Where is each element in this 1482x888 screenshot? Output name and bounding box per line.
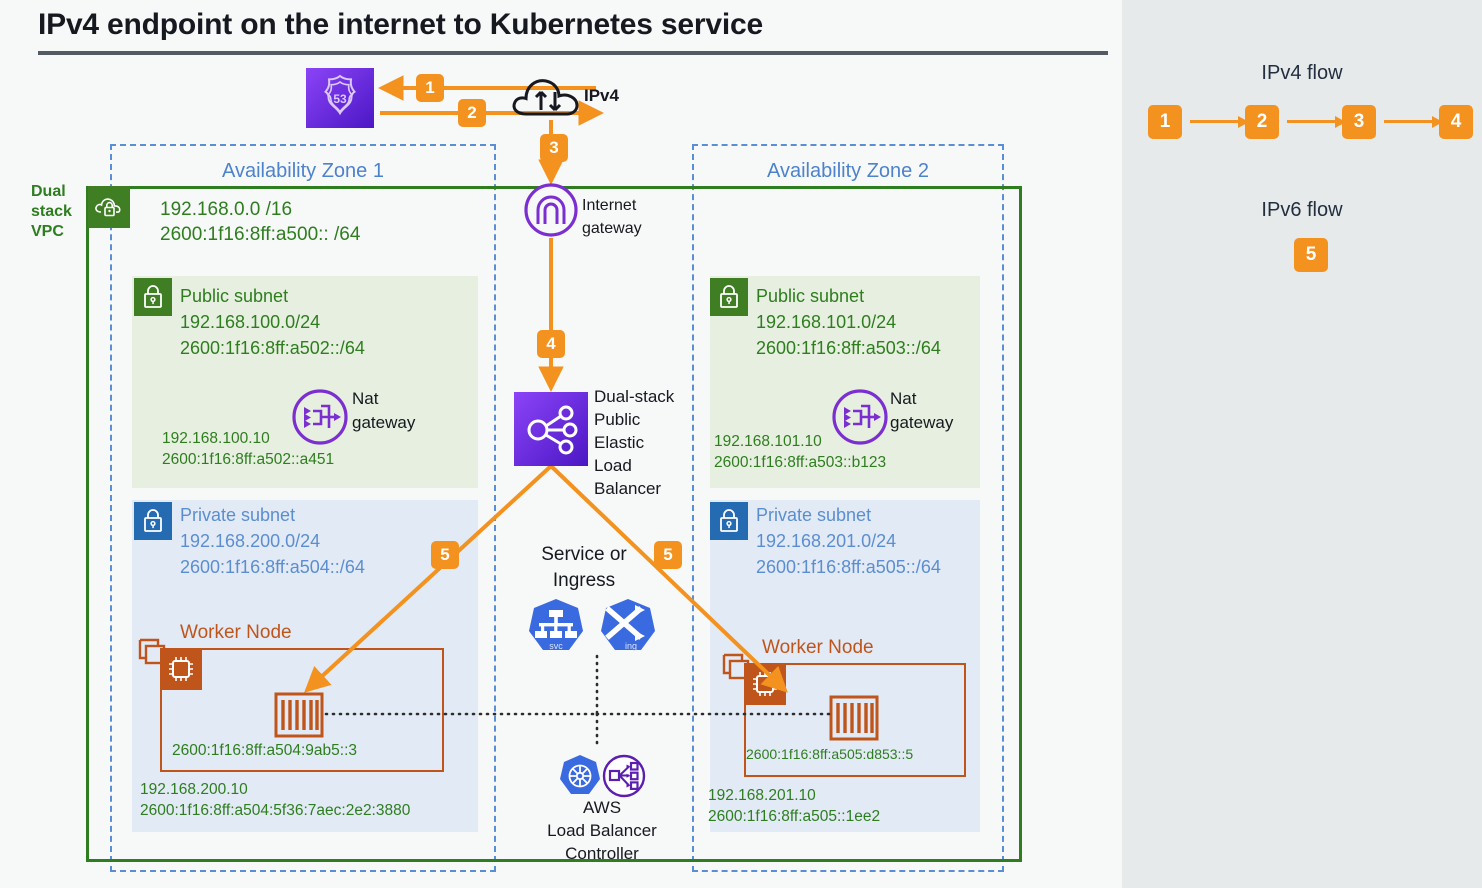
internet-gateway-label: Internet gateway: [582, 194, 642, 240]
public-subnet-1-cidr-v4: 192.168.100.0/24: [180, 309, 365, 335]
svg-text:53: 53: [333, 92, 347, 106]
internet-gateway-label-line-2: gateway: [582, 217, 642, 240]
public-subnet-2-info: Public subnet 192.168.101.0/24 2600:1f16…: [756, 283, 941, 361]
public-subnet-1-title: Public subnet: [180, 283, 365, 309]
worker-node-2-addresses: 192.168.201.10 2600:1f16:8ff:a505::1ee2: [708, 785, 880, 827]
albc-label-line-2: Load Balancer: [500, 819, 704, 842]
elb-label-line-2: Public: [594, 408, 674, 431]
title-divider: [38, 51, 1108, 55]
public-subnet-lock-icon: [710, 278, 748, 316]
albc-label-line-1: AWS: [500, 796, 704, 819]
kubernetes-wheel-icon: [558, 754, 602, 798]
private-subnet-1-info: Private subnet 192.168.200.0/24 2600:1f1…: [180, 502, 365, 580]
albc-label-line-3: Controller: [500, 842, 704, 865]
cpu-chip-icon: [744, 663, 786, 705]
internet-cloud-icon: [510, 72, 588, 122]
page-title: IPv4 endpoint on the internet to Kuberne…: [38, 8, 1108, 42]
service-title-line-1: Service or: [494, 542, 674, 568]
vpc-cidr-ipv4: 192.168.0.0 /16: [160, 197, 360, 222]
svc-caption: svc: [549, 641, 563, 651]
kubernetes-service-icon: svc: [525, 598, 587, 656]
service-or-ingress-title: Service or Ingress: [494, 542, 674, 594]
worker-node-1-pod-ipv6: 2600:1f16:8ff:a504:9ab5::3: [172, 742, 357, 760]
public-subnet-2-title: Public subnet: [756, 283, 941, 309]
elb-label-line-5: Balancer: [594, 477, 674, 500]
vpc-label-line-1: Dual: [31, 182, 85, 202]
title-block: IPv4 endpoint on the internet to Kuberne…: [38, 8, 1108, 55]
legend-badge-4: 4: [1439, 105, 1473, 139]
nat-gateway-1-label-line-1: Nat: [352, 387, 415, 411]
private-subnet-1-cidr-v6: 2600:1f16:8ff:a504::/64: [180, 554, 365, 580]
aws-load-balancer-controller-label: AWS Load Balancer Controller: [500, 796, 704, 865]
flow-badge-5-left: 5: [431, 541, 459, 569]
availability-zone-1-label: Availability Zone 1: [110, 160, 496, 183]
elastic-load-balancer-icon: [514, 392, 588, 466]
ing-caption: ing: [625, 641, 637, 651]
route53-shield-53-icon: 53: [306, 68, 374, 128]
elastic-load-balancer-label: Dual-stack Public Elastic Load Balancer: [594, 385, 674, 500]
kubernetes-ingress-icon: ing: [597, 598, 659, 656]
diagram-canvas: IPv4 endpoint on the internet to Kuberne…: [0, 0, 1482, 888]
public-subnet-1-cidr-v6: 2600:1f16:8ff:a502::/64: [180, 335, 365, 361]
elb-label-line-4: Load: [594, 454, 674, 477]
nat-gateway-1-label-line-2: gateway: [352, 411, 415, 435]
legend-arrow-2: [1287, 120, 1345, 123]
cpu-chip-icon: [160, 648, 202, 690]
nat-gateway-icon: [291, 388, 349, 451]
private-subnet-lock-icon: [134, 502, 172, 540]
aws-load-balancer-controller-icon: [602, 754, 646, 798]
elb-label-line-1: Dual-stack: [594, 385, 674, 408]
service-title-line-2: Ingress: [494, 568, 674, 594]
nat-gateway-2-ipv6: 2600:1f16:8ff:a503::b123: [714, 452, 886, 473]
legend-ipv6-title: IPv6 flow: [1122, 199, 1482, 222]
legend-badge-5: 5: [1294, 238, 1328, 272]
worker-node-1-label: Worker Node: [180, 622, 292, 644]
public-subnet-lock-icon: [134, 278, 172, 316]
flow-badge-4: 4: [537, 330, 565, 358]
worker-node-2-pod-ipv6: 2600:1f16:8ff:a505:d853::5: [746, 746, 913, 762]
private-subnet-1-cidr-v4: 192.168.200.0/24: [180, 528, 365, 554]
public-subnet-1-info: Public subnet 192.168.100.0/24 2600:1f16…: [180, 283, 365, 361]
public-subnet-2-cidr-v4: 192.168.101.0/24: [756, 309, 941, 335]
container-icon: [274, 692, 324, 738]
legend-arrow-1: [1190, 120, 1248, 123]
elb-label-line-3: Elastic: [594, 431, 674, 454]
worker-node-1-ipv4: 192.168.200.10: [140, 779, 410, 800]
public-subnet-2-cidr-v6: 2600:1f16:8ff:a503::/64: [756, 335, 941, 361]
worker-node-1-addresses: 192.168.200.10 2600:1f16:8ff:a504:5f36:7…: [140, 779, 410, 821]
legend-ipv4-title: IPv4 flow: [1122, 62, 1482, 85]
private-subnet-lock-icon: [710, 502, 748, 540]
worker-node-1-ipv6: 2600:1f16:8ff:a504:5f36:7aec:2e2:3880: [140, 800, 410, 821]
legend-badge-3: 3: [1342, 105, 1376, 139]
nat-gateway-2-label-line-1: Nat: [890, 387, 953, 411]
private-subnet-1-title: Private subnet: [180, 502, 365, 528]
worker-node-2-ipv4: 192.168.201.10: [708, 785, 880, 806]
internet-gateway-label-line-1: Internet: [582, 194, 642, 217]
legend-panel: IPv4 flow 1 2 3 4 IPv6 flow 5: [1122, 0, 1482, 888]
private-subnet-2-info: Private subnet 192.168.201.0/24 2600:1f1…: [756, 502, 941, 580]
internet-gateway-icon: [524, 183, 578, 237]
vpc-cidr-block: 192.168.0.0 /16 2600:1f16:8ff:a500:: /64: [160, 197, 360, 247]
container-icon: [829, 695, 879, 741]
flow-badge-1: 1: [416, 74, 444, 102]
flow-badge-3: 3: [540, 134, 568, 162]
availability-zone-2-label: Availability Zone 2: [692, 160, 1004, 183]
legend-badge-2: 2: [1245, 105, 1279, 139]
nat-gateway-1-ipv6: 2600:1f16:8ff:a502::a451: [162, 449, 334, 470]
nat-gateway-1-label: Nat gateway: [352, 387, 415, 435]
nat-gateway-2-label-line-2: gateway: [890, 411, 953, 435]
worker-node-2-ipv6: 2600:1f16:8ff:a505::1ee2: [708, 806, 880, 827]
vpc-label: Dual stack VPC: [31, 182, 85, 242]
flow-badge-2: 2: [458, 99, 486, 127]
nat-gateway-icon: [831, 388, 889, 451]
private-subnet-2-title: Private subnet: [756, 502, 941, 528]
vpc-cloud-lock-icon: [88, 186, 130, 228]
vpc-label-line-3: VPC: [31, 222, 85, 242]
vpc-label-line-2: stack: [31, 202, 85, 222]
worker-node-2-label: Worker Node: [762, 637, 874, 659]
legend-arrow-3: [1384, 120, 1442, 123]
vpc-cidr-ipv6: 2600:1f16:8ff:a500:: /64: [160, 222, 360, 247]
legend-badge-1: 1: [1148, 105, 1182, 139]
private-subnet-2-cidr-v4: 192.168.201.0/24: [756, 528, 941, 554]
private-subnet-2-cidr-v6: 2600:1f16:8ff:a505::/64: [756, 554, 941, 580]
flow-badge-5-right: 5: [654, 541, 682, 569]
nat-gateway-2-label: Nat gateway: [890, 387, 953, 435]
internet-ipv4-label: IPv4: [584, 86, 619, 106]
